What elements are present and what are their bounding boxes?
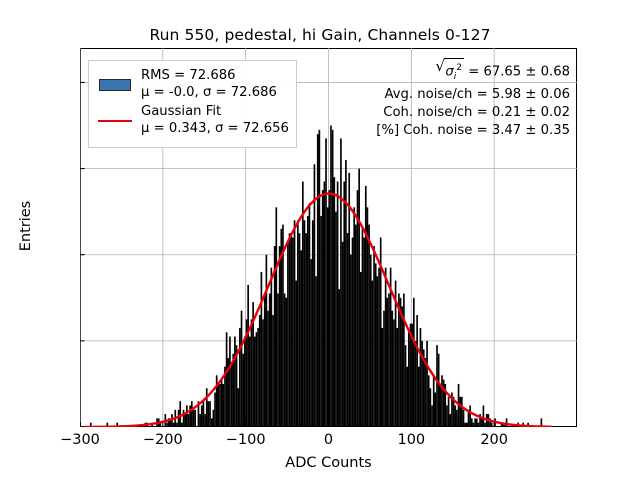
x-tick-label: −300 [60,432,100,448]
page-title: Run 550, pedestal, hi Gain, Channels 0-1… [0,26,640,44]
legend-item-fit: Gaussian Fit μ = 0.343, σ = 72.656 [97,104,288,137]
annotation-sigma-i-value: = 67.65 ± 0.68 [468,64,570,79]
legend-fit-text: Gaussian Fit μ = 0.343, σ = 72.656 [141,104,289,137]
annotation-coh-noise-pct: [%] Coh. noise = 3.47 ± 0.35 [317,122,570,140]
y-axis-label: Entries [18,96,34,356]
legend: RMS = 72.686 μ = -0.0, σ = 72.686 Gaussi… [88,60,297,148]
histogram-swatch-icon [97,74,133,96]
legend-fit-params: μ = 0.343, σ = 72.656 [141,121,289,136]
statistics-annotation: √σi2 = 67.65 ± 0.68 Avg. noise/ch = 5.98… [317,58,570,140]
x-tick-label: 100 [397,432,425,448]
x-tick-label: 0 [324,432,333,448]
figure-canvas: Run 550, pedestal, hi Gain, Channels 0-1… [0,0,640,480]
legend-histogram-text: RMS = 72.686 μ = -0.0, σ = 72.686 [141,68,277,101]
legend-hist-params: μ = -0.0, σ = 72.686 [141,85,277,100]
x-tick-label: −100 [226,432,266,448]
sqrt-icon: √σi2 [435,58,464,86]
annotation-coh-noise: Coh. noise/ch = 0.21 ± 0.02 [317,104,570,122]
legend-fit-title: Gaussian Fit [141,104,221,119]
x-tick-label: −200 [143,432,183,448]
x-tick-label: 200 [480,432,508,448]
fit-line-swatch-icon [97,110,133,132]
annotation-avg-noise: Avg. noise/ch = 5.98 ± 0.06 [317,86,570,104]
legend-rms-value: RMS = 72.686 [141,68,236,83]
legend-item-histogram: RMS = 72.686 μ = -0.0, σ = 72.686 [97,68,288,101]
annotation-sigma-i: √σi2 = 67.65 ± 0.68 [317,58,570,86]
x-axis-label: ADC Counts [80,455,577,471]
